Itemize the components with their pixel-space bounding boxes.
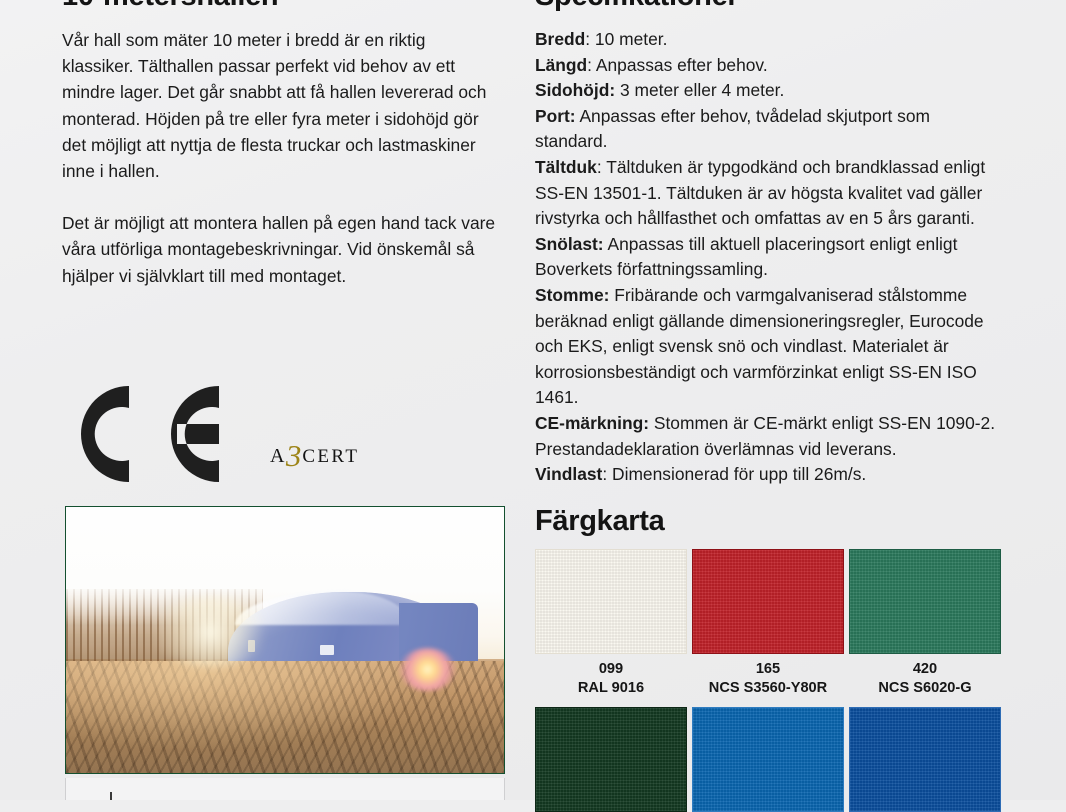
- photo-sun-glow: [145, 597, 276, 666]
- specifications-list: Bredd: 10 meter.Längd: Anpassas efter be…: [535, 27, 1005, 488]
- spec-key: Längd: [535, 55, 587, 75]
- spec-key: Stomme:: [535, 285, 609, 305]
- hall-photo: [65, 506, 505, 774]
- swatch-weave-texture: [536, 708, 686, 811]
- spec-item: Snölast: Anpassas till aktuell placering…: [535, 232, 1005, 283]
- swatch-cell[interactable]: [849, 707, 1001, 812]
- page-canvas: 10-metershallen Vår hall som mäter 10 me…: [0, 0, 1066, 800]
- swatch-chip[interactable]: [849, 707, 1001, 812]
- spec-key: Vindlast: [535, 464, 602, 484]
- spec-item: Tältduk: Tältduken är typgodkänd och bra…: [535, 155, 1005, 232]
- spec-value: Anpassas efter behov, tvådelad skjutport…: [535, 106, 930, 152]
- spec-value: 3 meter eller 4 meter.: [620, 80, 784, 100]
- swatch-labels: 099RAL 9016: [535, 654, 687, 698]
- swatch-chip[interactable]: [692, 707, 844, 812]
- spec-value: Dimensionerad för upp till 26m/s.: [612, 464, 866, 484]
- swatch-cell[interactable]: 165NCS S3560-Y80R: [692, 549, 844, 698]
- specifications-title: Specifikationer: [535, 0, 738, 11]
- swatch-cell[interactable]: 099RAL 9016: [535, 549, 687, 698]
- right-column: Specifikationer Bredd: 10 meter.Längd: A…: [535, 0, 1005, 800]
- swatch-weave-texture: [536, 550, 686, 653]
- hall-photo-image: [66, 507, 504, 773]
- spec-key: CE-märkning:: [535, 413, 649, 433]
- swatch-cell[interactable]: [692, 707, 844, 812]
- photo-hall-door: [320, 645, 334, 654]
- swatch-weave-texture: [850, 550, 1000, 653]
- spec-item: Sidohöjd: 3 meter eller 4 meter.: [535, 78, 1005, 104]
- photo-caption-area: [65, 778, 505, 800]
- page-title: 10-metershallen: [62, 0, 278, 11]
- swatch-ncs-code: RAL 9016: [535, 679, 687, 698]
- left-column: 10-metershallen Vår hall som mäter 10 me…: [62, 0, 502, 800]
- spec-item: Bredd: 10 meter.: [535, 27, 1005, 53]
- spec-key: Port:: [535, 106, 576, 126]
- caption-mark-icon: [110, 792, 112, 800]
- swatch-row: [535, 707, 1005, 812]
- spec-key: Sidohöjd:: [535, 80, 615, 100]
- color-swatch-grid: 099RAL 9016165NCS S3560-Y80R420NCS S6020…: [535, 549, 1005, 812]
- intro-text: Vår hall som mäter 10 meter i bredd är e…: [62, 27, 499, 289]
- swatch-code: 099: [535, 660, 687, 679]
- swatch-chip[interactable]: [692, 549, 844, 654]
- swatch-cell[interactable]: [535, 707, 687, 812]
- spec-value: Tältduken är typgodkänd och brandklassad…: [535, 157, 985, 228]
- spec-item: Stomme: Fribärande och varmgalvaniserad …: [535, 283, 1005, 411]
- spec-item: Längd: Anpassas efter behov.: [535, 53, 1005, 79]
- spec-item: CE-märkning: Stommen är CE-märkt enligt …: [535, 411, 1005, 462]
- a3cert-suffix: CERT: [302, 446, 359, 467]
- swatch-weave-texture: [693, 708, 843, 811]
- color-chart-title: Färgkarta: [535, 507, 664, 536]
- photo-lens-flare: [399, 648, 456, 691]
- swatch-code: 420: [849, 660, 1001, 679]
- a3cert-logo: A3CERT: [270, 434, 420, 478]
- swatch-labels: 165NCS S3560-Y80R: [692, 654, 844, 698]
- intro-paragraph-2: Det är möjligt att montera hallen på ege…: [62, 210, 499, 289]
- swatch-weave-texture: [693, 550, 843, 653]
- a3cert-numeral: 3: [286, 438, 302, 473]
- spec-value: Anpassas efter behov.: [596, 55, 768, 75]
- swatch-chip[interactable]: [849, 549, 1001, 654]
- ce-mark-icon: [67, 378, 227, 490]
- spec-value: 10 meter.: [595, 29, 668, 49]
- spec-key: Bredd: [535, 29, 585, 49]
- intro-paragraph-1: Vår hall som mäter 10 meter i bredd är e…: [62, 27, 499, 184]
- certification-marks: A3CERT: [62, 378, 502, 493]
- spec-item: Port: Anpassas efter behov, tvådelad skj…: [535, 104, 1005, 155]
- swatch-ncs-code: NCS S6020-G: [849, 679, 1001, 698]
- swatch-weave-texture: [850, 708, 1000, 811]
- swatch-code: 165: [692, 660, 844, 679]
- swatch-cell[interactable]: 420NCS S6020-G: [849, 549, 1001, 698]
- swatch-row: 099RAL 9016165NCS S3560-Y80R420NCS S6020…: [535, 549, 1005, 698]
- swatch-ncs-code: NCS S3560-Y80R: [692, 679, 844, 698]
- a3cert-prefix: A: [270, 445, 287, 467]
- swatch-labels: 420NCS S6020-G: [849, 654, 1001, 698]
- swatch-chip[interactable]: [535, 707, 687, 812]
- spec-key: Tältduk: [535, 157, 597, 177]
- swatch-chip[interactable]: [535, 549, 687, 654]
- spec-item: Vindlast: Dimensionerad för upp till 26m…: [535, 462, 1005, 488]
- spec-key: Snölast:: [535, 234, 604, 254]
